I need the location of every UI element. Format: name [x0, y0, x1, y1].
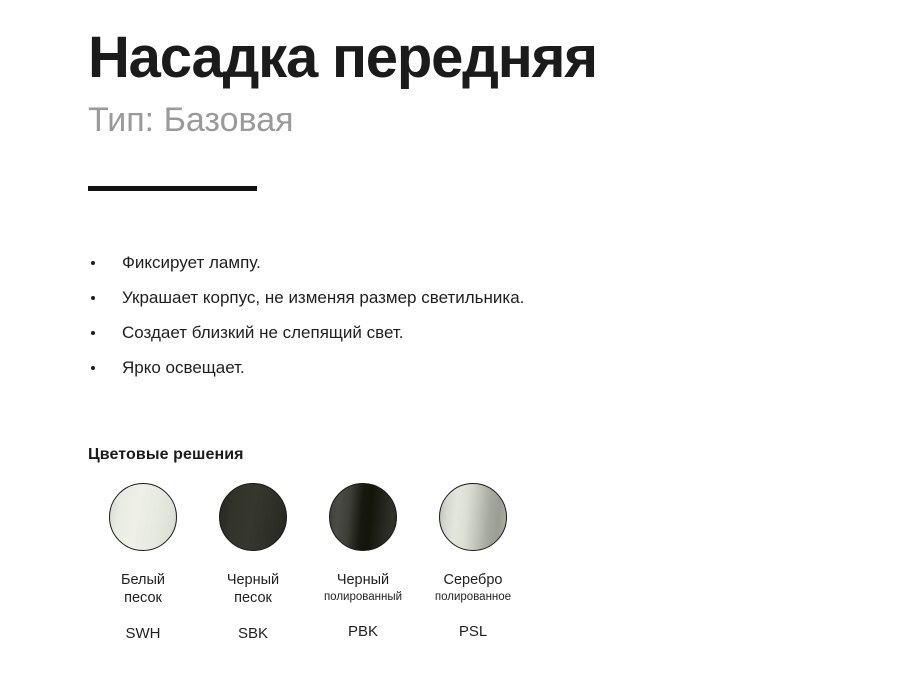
- list-item: Создает близкий не слепящий свет.: [88, 322, 708, 344]
- color-circle-swh[interactable]: [109, 483, 177, 551]
- color-circle-sbk[interactable]: [219, 483, 287, 551]
- feature-text: Украшает корпус, не изменяя размер свети…: [122, 288, 524, 307]
- list-item: Ярко освещает.: [88, 357, 708, 379]
- color-circle-pbk[interactable]: [329, 483, 397, 551]
- product-spec-page: Насадка передняя Тип: Базовая Фиксирует …: [0, 0, 900, 700]
- bullet-icon: [91, 296, 95, 300]
- color-name-line1: Черный: [227, 571, 279, 589]
- feature-text: Создает близкий не слепящий свет.: [122, 323, 403, 342]
- list-item: Фиксирует лампу.: [88, 252, 708, 274]
- bullet-icon: [91, 261, 95, 265]
- bullet-icon: [91, 366, 95, 370]
- color-name-sbk: Черный песок: [227, 571, 279, 607]
- color-name-line1: Белый: [121, 571, 165, 589]
- color-swatch-psl[interactable]: Серебро полированное PSL: [418, 483, 528, 640]
- color-name-line1: Серебро: [435, 571, 511, 589]
- color-swatch-sbk[interactable]: Черный песок SBK: [198, 483, 308, 642]
- feature-text: Ярко освещает.: [122, 358, 245, 377]
- color-name-line2: песок: [227, 589, 279, 607]
- color-name-line1: Черный: [324, 571, 402, 589]
- color-swatch-row: Белый песок SWH Черный песок SBK Черный …: [88, 483, 528, 642]
- color-options-heading: Цветовые решения: [88, 446, 848, 464]
- page-title: Насадка передняя: [88, 26, 848, 90]
- color-code-psl: PSL: [459, 623, 487, 640]
- bullet-icon: [91, 331, 95, 335]
- color-name-line2: полированный: [324, 589, 402, 605]
- color-code-sbk: SBK: [238, 625, 268, 642]
- color-code-swh: SWH: [126, 625, 161, 642]
- color-code-pbk: PBK: [348, 623, 378, 640]
- header: Насадка передняя Тип: Базовая: [88, 26, 848, 140]
- color-name-swh: Белый песок: [121, 571, 165, 607]
- color-name-psl: Серебро полированное: [435, 571, 511, 605]
- color-swatch-swh[interactable]: Белый песок SWH: [88, 483, 198, 642]
- color-options-section: Цветовые решения Белый песок SWH Черный …: [88, 446, 848, 464]
- feature-list: Фиксирует лампу. Украшает корпус, не изм…: [88, 252, 708, 392]
- header-divider: [88, 186, 257, 191]
- color-swatch-pbk[interactable]: Черный полированный PBK: [308, 483, 418, 640]
- color-name-line2: полированное: [435, 589, 511, 605]
- color-name-pbk: Черный полированный: [324, 571, 402, 605]
- color-circle-psl[interactable]: [439, 483, 507, 551]
- feature-text: Фиксирует лампу.: [122, 253, 261, 272]
- color-name-line2: песок: [121, 589, 165, 607]
- list-item: Украшает корпус, не изменяя размер свети…: [88, 287, 708, 309]
- page-subtitle: Тип: Базовая: [88, 100, 848, 140]
